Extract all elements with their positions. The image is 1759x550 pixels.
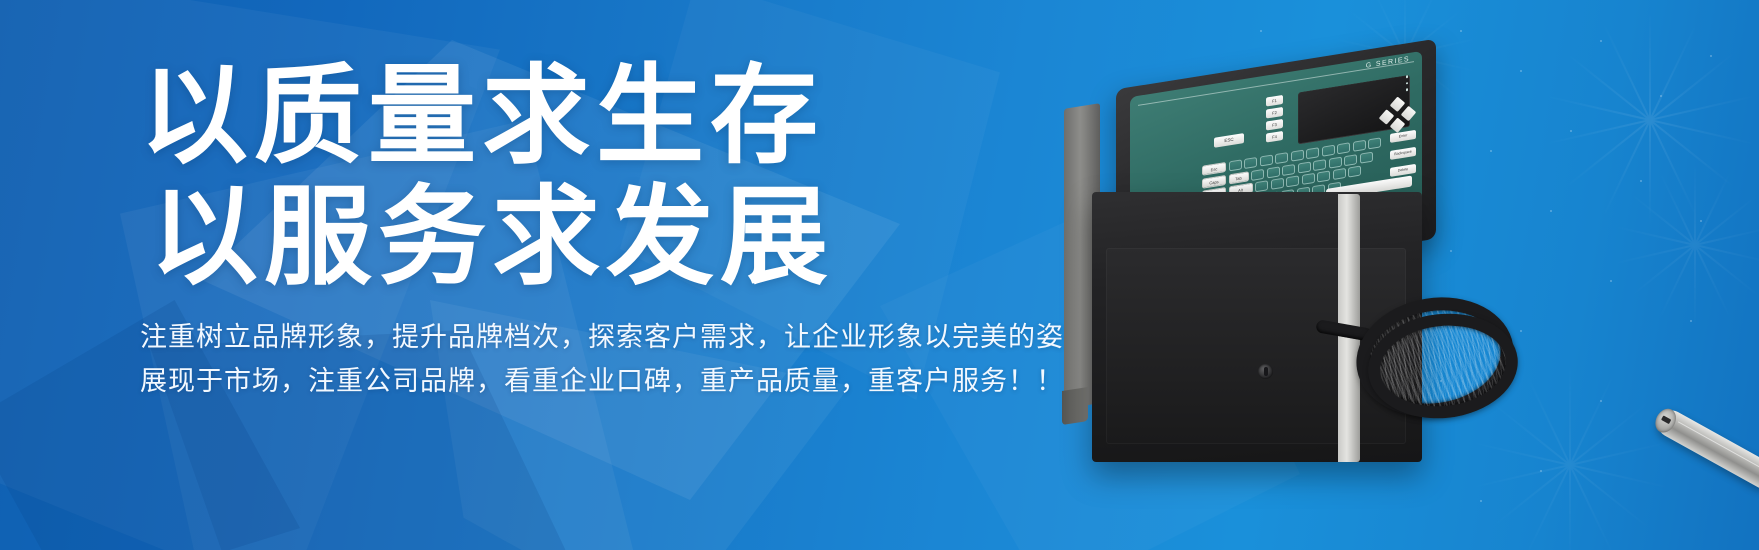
key-s[interactable] [1267,166,1280,178]
key-o[interactable] [1353,140,1366,152]
bg-speck [1700,220,1702,222]
function-key-group: F1 F2 F3 F4 [1266,95,1283,146]
key-u[interactable] [1322,145,1335,157]
key-i[interactable] [1337,142,1350,154]
bg-speck [1660,95,1662,97]
banner-copy: 以质量求生存 以服务求发展 注重树立品牌形象，提升品牌档次，探索客户需求，让企业… [140,56,1040,403]
conduit-cable [1350,292,1600,462]
bg-speck [1460,30,1462,32]
key-b[interactable] [1317,170,1330,182]
key-tab[interactable]: Tab [1229,171,1249,184]
product-image-inkjet-printer: G SERIES F1 F2 F3 F4 ESC Enter Backspace… [1020,44,1640,514]
key-j[interactable] [1344,154,1357,166]
function-key-f3[interactable]: F3 [1266,119,1283,131]
printer-pillar-foot [1062,387,1088,425]
key-y[interactable] [1306,147,1319,159]
key-r[interactable] [1275,152,1288,164]
key-g[interactable] [1313,159,1326,171]
key-v[interactable] [1302,173,1315,185]
function-key-f1[interactable]: F1 [1266,95,1283,107]
esc-key[interactable]: ESC [1214,133,1244,148]
key-x[interactable] [1271,178,1284,190]
subtitle-line-2: 展现于市场，注重公司品牌，看重企业口碑，重产品质量，重客户服务！！！ [140,360,1040,404]
key-q[interactable] [1229,159,1242,171]
headline: 以质量求生存 以服务求发展 [140,56,1040,298]
headline-line-2: 以服务求发展 [150,177,1040,298]
key-f[interactable] [1298,161,1311,173]
bg-speck [1690,320,1692,322]
bg-speck [1260,30,1262,32]
key-e[interactable] [1260,155,1273,167]
key-n[interactable] [1333,168,1346,180]
key-caps[interactable]: Caps [1202,174,1226,188]
key-a[interactable] [1251,168,1264,180]
key-esc[interactable]: Esc [1202,162,1226,176]
bg-speck [1710,55,1712,57]
key-m[interactable] [1348,166,1361,178]
status-led-dots [1406,75,1409,95]
key-c[interactable] [1286,175,1299,187]
key-p[interactable] [1368,137,1381,149]
key-z[interactable] [1255,180,1268,192]
series-label: G SERIES [1366,56,1410,70]
arrow-pad-icon[interactable] [1380,98,1414,129]
subtitle-line-1: 注重树立品牌形象，提升品牌档次，探索客户需求，让企业形象以完美的姿态 [140,316,1040,360]
key-d[interactable] [1282,163,1295,175]
headline-line-1: 以质量求生存 [140,55,824,176]
key-t[interactable] [1291,150,1304,162]
key-w[interactable] [1244,157,1257,169]
subtitle: 注重树立品牌形象，提升品牌档次，探索客户需求，让企业形象以完美的姿态 展现于市场… [140,316,1040,403]
bg-speck [1600,40,1602,42]
key-k[interactable] [1360,151,1373,163]
lock-icon[interactable] [1258,364,1273,379]
function-key-f2[interactable]: F2 [1266,107,1283,119]
key-h[interactable] [1329,156,1342,168]
function-key-f4[interactable]: F4 [1266,131,1283,143]
promo-banner: 以质量求生存 以服务求发展 注重树立品牌形象，提升品牌档次，探索客户需求，让企业… [0,0,1759,550]
bg-speck [1640,180,1642,182]
